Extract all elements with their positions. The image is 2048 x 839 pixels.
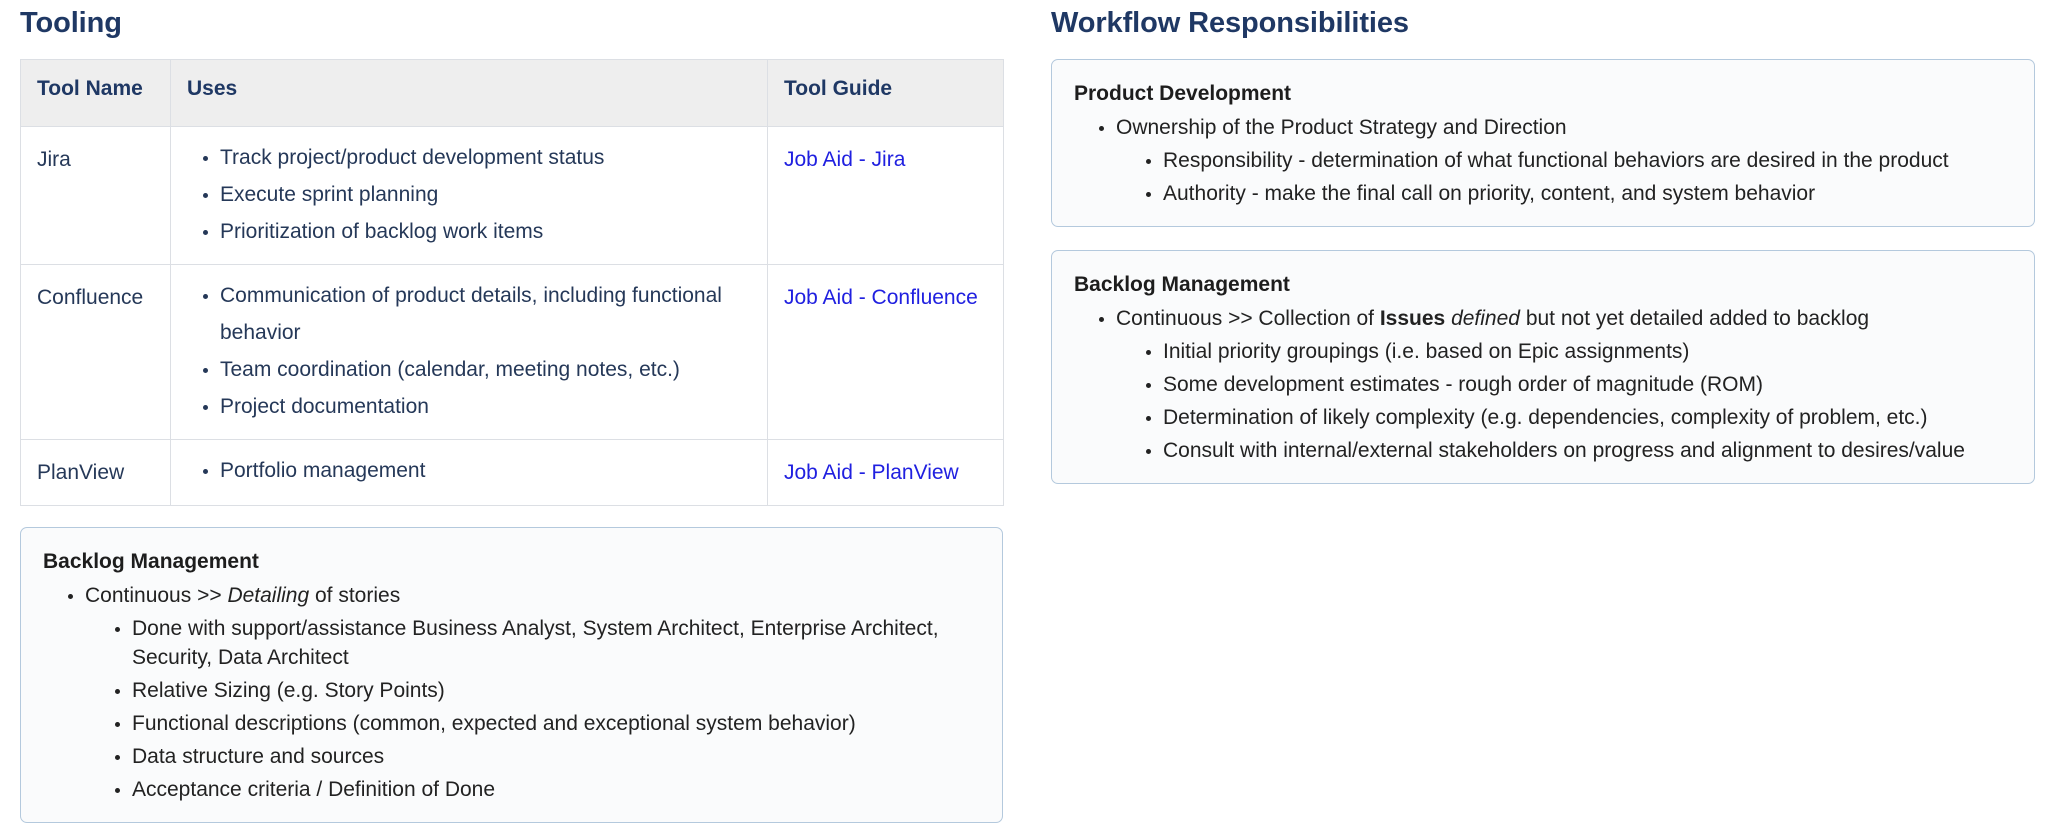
- continuous-label: Continuous >>: [85, 584, 227, 607]
- panel-list-level2: Done with support/assistance Business An…: [85, 614, 980, 804]
- list-item: Team coordination (calendar, meeting not…: [220, 351, 751, 388]
- job-aid-link-jira[interactable]: Job Aid - Jira: [784, 144, 905, 175]
- table-header-row: Tool Name Uses Tool Guide: [21, 60, 1004, 127]
- table-row: Jira Track project/product development s…: [21, 127, 1004, 265]
- list-item: Authority - make the final call on prior…: [1163, 179, 2012, 208]
- uses-list: Communication of product details, includ…: [187, 277, 751, 425]
- list-item: Determination of likely complexity (e.g.…: [1163, 403, 2012, 432]
- column-header-tool-name: Tool Name: [21, 60, 171, 127]
- continuous-collection-label: Continuous >> Collection of: [1116, 307, 1380, 330]
- cell-tool-guide: Job Aid - Jira: [768, 127, 1004, 265]
- column-header-uses: Uses: [171, 60, 768, 127]
- list-item: Functional descriptions (common, expecte…: [132, 709, 980, 738]
- list-item: Portfolio management: [220, 452, 751, 489]
- uses-list: Track project/product development status…: [187, 139, 751, 250]
- list-item: Track project/product development status: [220, 139, 751, 176]
- panel-list-level2: Responsibility - determination of what f…: [1116, 146, 2012, 208]
- tooling-table: Tool Name Uses Tool Guide Jira Track pro…: [20, 59, 1004, 506]
- job-aid-link-planview[interactable]: Job Aid - PlanView: [784, 457, 959, 488]
- page-title-tooling: Tooling: [20, 6, 1004, 40]
- list-item: Ownership of the Product Strategy and Di…: [1116, 113, 2012, 208]
- list-item: Responsibility - determination of what f…: [1163, 146, 2012, 175]
- ownership-label: Ownership of the Product Strategy and Di…: [1116, 116, 1567, 139]
- list-item: Execute sprint planning: [220, 176, 751, 213]
- panel-list-level1: Continuous >> Detailing of stories Done …: [43, 581, 980, 804]
- panel-title: Backlog Management: [1074, 269, 2012, 300]
- table-row: PlanView Portfolio management Job Aid - …: [21, 440, 1004, 506]
- list-item: Acceptance criteria / Definition of Done: [132, 775, 980, 804]
- right-column: Workflow Responsibilities Product Develo…: [1051, 0, 2035, 484]
- panel-list-level1: Continuous >> Collection of Issues defin…: [1074, 304, 2012, 465]
- cell-uses: Track project/product development status…: [171, 127, 768, 265]
- panel-list-level1: Ownership of the Product Strategy and Di…: [1074, 113, 2012, 208]
- cell-uses: Portfolio management: [171, 440, 768, 506]
- detailing-emphasis: Detailing: [227, 584, 309, 607]
- column-header-tool-guide: Tool Guide: [768, 60, 1004, 127]
- of-stories-label: of stories: [309, 584, 400, 607]
- list-item: Prioritization of backlog work items: [220, 213, 751, 250]
- tooling-table-body: Jira Track project/product development s…: [21, 127, 1004, 506]
- list-item: Consult with internal/external stakehold…: [1163, 436, 2012, 465]
- defined-emphasis: defined: [1451, 307, 1520, 330]
- cell-tool-guide: Job Aid - Confluence: [768, 265, 1004, 440]
- list-item: Data structure and sources: [132, 742, 980, 771]
- product-development-panel: Product Development Ownership of the Pro…: [1051, 59, 2035, 227]
- uses-list: Portfolio management: [187, 452, 751, 489]
- cell-tool-name: Jira: [21, 127, 171, 265]
- page-root: Tooling Tool Name Uses Tool Guide Jira: [0, 0, 2048, 839]
- list-item: Relative Sizing (e.g. Story Points): [132, 676, 980, 705]
- list-item: Initial priority groupings (i.e. based o…: [1163, 337, 2012, 366]
- list-item: Communication of product details, includ…: [220, 277, 751, 351]
- left-column: Tooling Tool Name Uses Tool Guide Jira: [20, 0, 1004, 823]
- panel-title: Backlog Management: [43, 546, 980, 577]
- page-title-workflow-responsibilities: Workflow Responsibilities: [1051, 6, 2035, 40]
- backlog-management-panel-left: Backlog Management Continuous >> Detaili…: [20, 527, 1003, 823]
- cell-tool-name: Confluence: [21, 265, 171, 440]
- list-item: Some development estimates - rough order…: [1163, 370, 2012, 399]
- backlog-tail-label: but not yet detailed added to backlog: [1520, 307, 1869, 330]
- list-item: Project documentation: [220, 388, 751, 425]
- cell-uses: Communication of product details, includ…: [171, 265, 768, 440]
- backlog-management-panel-right: Backlog Management Continuous >> Collect…: [1051, 250, 2035, 484]
- list-item: Continuous >> Collection of Issues defin…: [1116, 304, 2012, 465]
- panel-list-level2: Initial priority groupings (i.e. based o…: [1116, 337, 2012, 465]
- table-row: Confluence Communication of product deta…: [21, 265, 1004, 440]
- list-item: Continuous >> Detailing of stories Done …: [85, 581, 980, 804]
- issues-strong: Issues: [1380, 307, 1445, 330]
- cell-tool-name: PlanView: [21, 440, 171, 506]
- job-aid-link-confluence[interactable]: Job Aid - Confluence: [784, 282, 978, 313]
- tooling-table-head: Tool Name Uses Tool Guide: [21, 60, 1004, 127]
- list-item: Done with support/assistance Business An…: [132, 614, 980, 672]
- panel-title: Product Development: [1074, 78, 2012, 109]
- cell-tool-guide: Job Aid - PlanView: [768, 440, 1004, 506]
